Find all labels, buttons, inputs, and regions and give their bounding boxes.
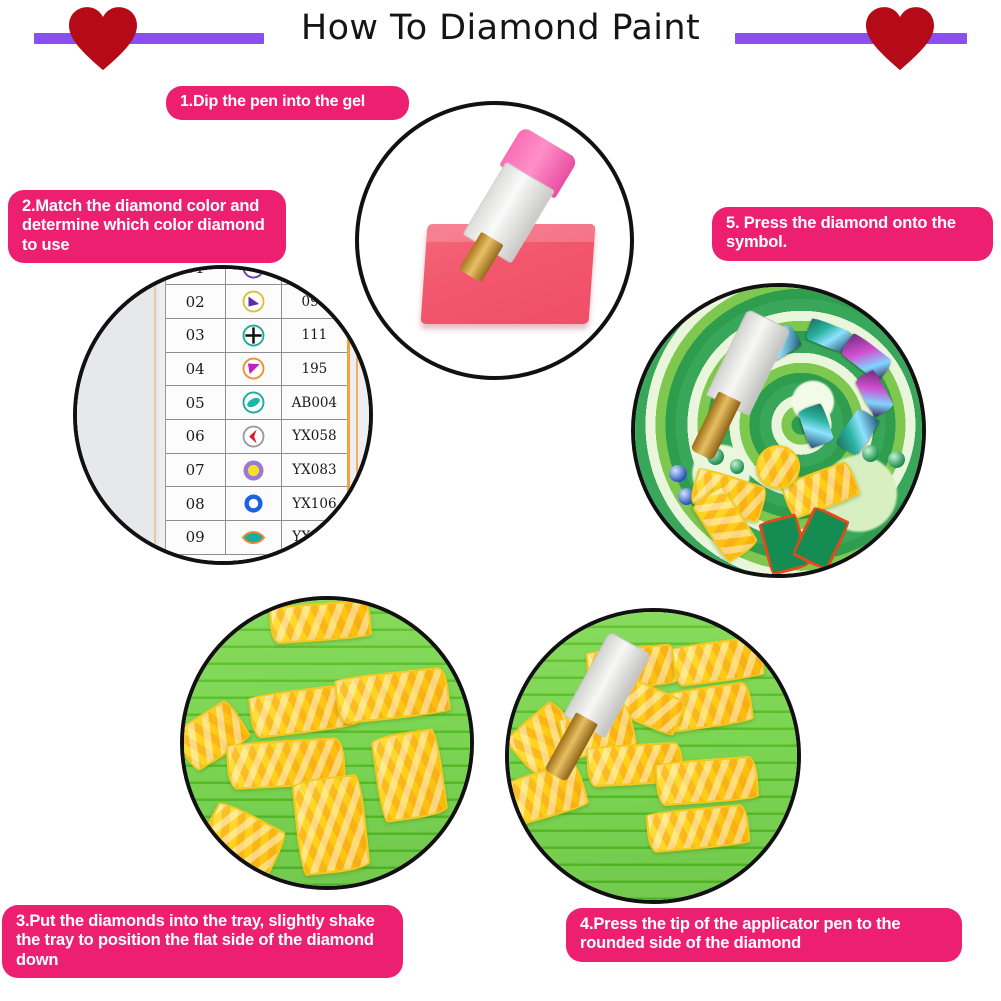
color-chart-table: 0102802093031110419505AB00406YX05807YX08… [165,265,348,565]
teal-plus-symbol [225,319,283,352]
dot-gem [730,459,744,473]
header: How To Diamond Paint [0,0,1001,72]
step-5-label: 5. Press the diamond onto the symbol. [712,207,993,261]
canvas-guide-line [154,269,156,561]
chart-row-code: 195 [282,361,346,377]
chart-orange-stripe [347,265,350,565]
infographic-page: How To Diamond Paint 1.Dip the pen into … [0,0,1001,1001]
blue-ring-symbol [225,487,283,520]
chart-row: 08YX106 [166,487,347,521]
pen-gel-scene [359,105,630,376]
step-2-label: 2.Match the diamond color and determine … [8,190,286,263]
step-4-label: 4.Press the tip of the applicator pen to… [566,908,962,962]
dot-gem [669,465,686,482]
chart-row-code: 028 [282,265,346,276]
chart-row-number: 02 [166,293,225,311]
chart-row: 04195 [166,353,347,387]
canvas-area [77,269,159,561]
red-arrow-symbol [225,420,283,453]
mandala-scene [635,287,922,574]
step-3-photo [180,596,474,890]
chart-row-number: 09 [166,528,225,546]
magenta-triangle-symbol [225,353,283,386]
chart-row-code: 111 [282,327,346,343]
chart-row: 03111 [166,319,347,353]
pen-tip [544,712,598,782]
chart-row-number: 05 [166,394,225,412]
chart-row-code: AB004 [282,395,346,411]
chart-row: 09YX125 [166,521,347,555]
color-chart-scene: 0102802093031110419505AB00406YX05807YX08… [77,269,369,561]
step-1-photo [355,101,634,380]
yellow-diamond [291,774,370,876]
yellow-diamond [370,727,448,822]
chart-row: 05AB004 [166,386,347,420]
chart-row-code: YX083 [282,462,346,478]
pen-pickup-scene [509,612,797,900]
chart-row-code: YX125 [282,529,346,545]
step-3-label: 3.Put the diamonds into the tray, slight… [2,905,403,978]
chart-row: 01028 [166,265,347,285]
chart-row-code: YX106 [282,496,346,512]
chart-row-code: YX058 [282,428,346,444]
diamond-tray-scene [184,600,470,886]
chart-row-number: 03 [166,326,225,344]
purple-triangle-symbol [225,285,283,318]
yellow-dot-symbol [225,454,283,487]
chart-row: 06YX058 [166,420,347,454]
step-2-photo: 0102802093031110419505AB00406YX05807YX08… [73,265,373,565]
teal-leaf-symbol [225,521,283,554]
chart-row-number: 06 [166,427,225,445]
chart-row-number: 07 [166,461,225,479]
yellow-diamond [654,755,759,806]
step-4-photo [505,608,801,904]
chart-row: 07YX083 [166,454,347,488]
chart-orange-stripe-2 [356,265,358,565]
pen-tip [690,391,741,461]
chart-row-number: 04 [166,360,225,378]
chart-row-number: 01 [166,265,225,277]
chart-row-code: 093 [282,294,346,310]
step-5-photo [631,283,926,578]
chart-row: 02093 [166,285,347,319]
page-title: How To Diamond Paint [0,8,1001,48]
chart-row-number: 08 [166,495,225,513]
dot-gem [862,445,879,462]
teal-oval-symbol [225,386,283,419]
dot-gem [888,451,905,468]
two-dot-circle-symbol [225,265,283,284]
